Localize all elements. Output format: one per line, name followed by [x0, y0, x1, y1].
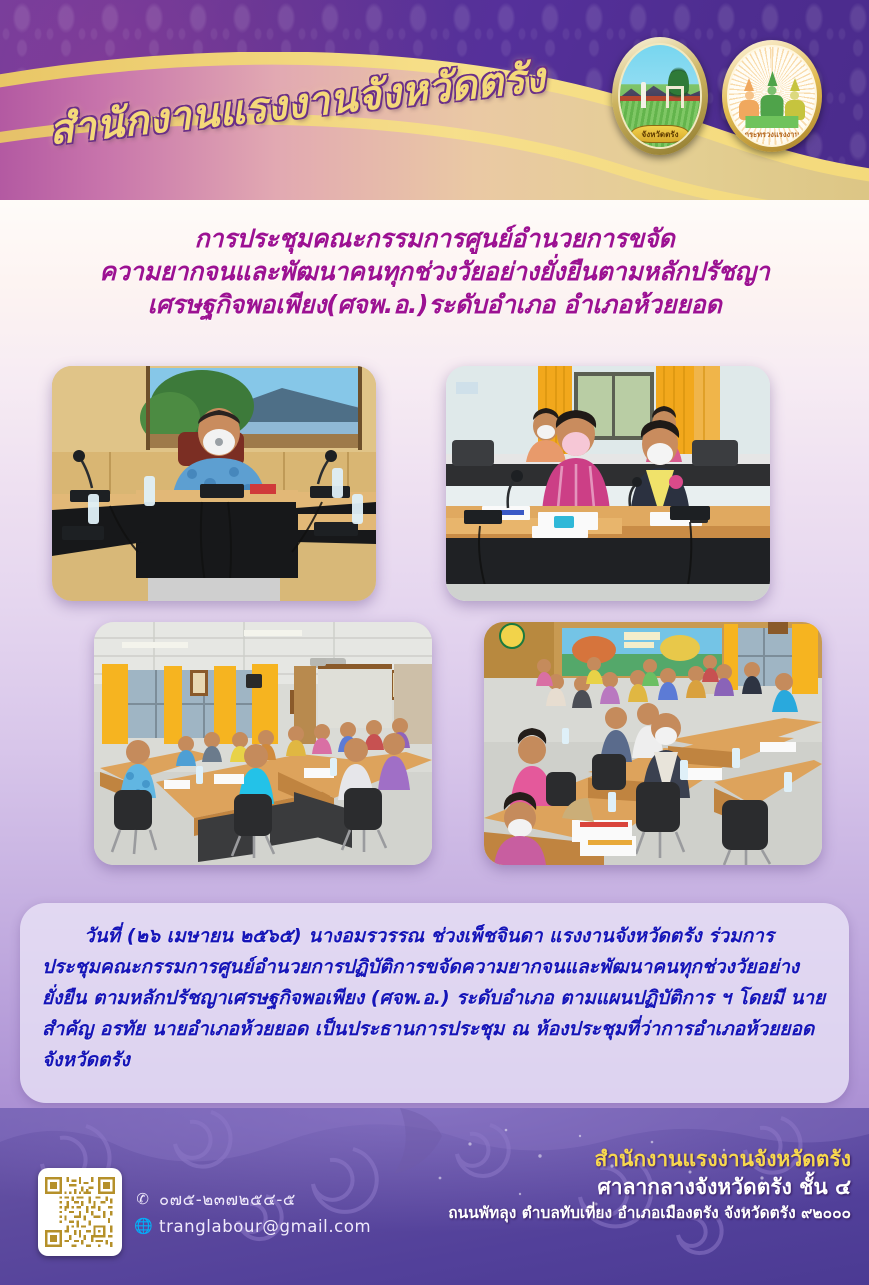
globe-icon: 🌐	[134, 1213, 152, 1240]
footer-address-line-2: ถนนพัทลุง ตำบลทับเที่ยง อำเภอเมืองตรัง จ…	[311, 1202, 851, 1224]
page-title-line-2: ความยากจนและพัฒนาคนทุกช่วงวัยอย่างยั่งยื…	[0, 255, 869, 288]
footer-address-block: สำนักงานแรงงานจังหวัดตรัง ศาลากลางจังหวั…	[311, 1146, 851, 1224]
poster-root: สำนักงานแรงงานจังหวัดตรัง จังหวัดตรัง กร…	[0, 0, 869, 1285]
page-title-line-3: เศรษฐกิจพอเพียง(ศจพ.อ.)ระดับอำเภอ อำเภอห…	[0, 288, 869, 321]
qr-code[interactable]	[38, 1168, 122, 1256]
contact-phone-value: ๐๗๕-๒๓๗๒๕๔-๕	[159, 1186, 296, 1213]
poster-header: สำนักงานแรงงานจังหวัดตรัง จังหวัดตรัง กร…	[0, 0, 869, 200]
ministry-seal-caption: กระทรวงแรงงาน	[745, 129, 800, 141]
photo-meeting-room-wide-left	[94, 622, 432, 865]
ministry-of-labour-seal-icon: กระทรวงแรงงาน	[722, 40, 822, 152]
description-text: วันที่ (๒๖ เมษายน ๒๕๖๕) นางอมรวรรณ ช่วงเ…	[42, 921, 827, 1076]
description-box: วันที่ (๒๖ เมษายน ๒๕๖๕) นางอมรวรรณ ช่วงเ…	[20, 903, 849, 1103]
trang-seal-caption: จังหวัดตรัง	[630, 125, 689, 143]
footer-address-line-1: ศาลากลางจังหวัดตรัง ชั้น ๔	[311, 1172, 851, 1202]
page-title-line-1: การประชุมคณะกรรมการศูนย์อำนวยการขจัด	[0, 222, 869, 255]
photo-meeting-room-wide-right	[484, 622, 822, 865]
phone-icon: ✆	[134, 1186, 152, 1213]
photo-chairman-at-meeting-table	[52, 366, 376, 601]
trang-province-seal-icon: จังหวัดตรัง	[612, 37, 708, 155]
photo-female-officials-seated	[446, 366, 770, 601]
page-title: การประชุมคณะกรรมการศูนย์อำนวยการขจัด ควา…	[0, 222, 869, 321]
footer-org-name: สำนักงานแรงงานจังหวัดตรัง	[311, 1146, 851, 1172]
